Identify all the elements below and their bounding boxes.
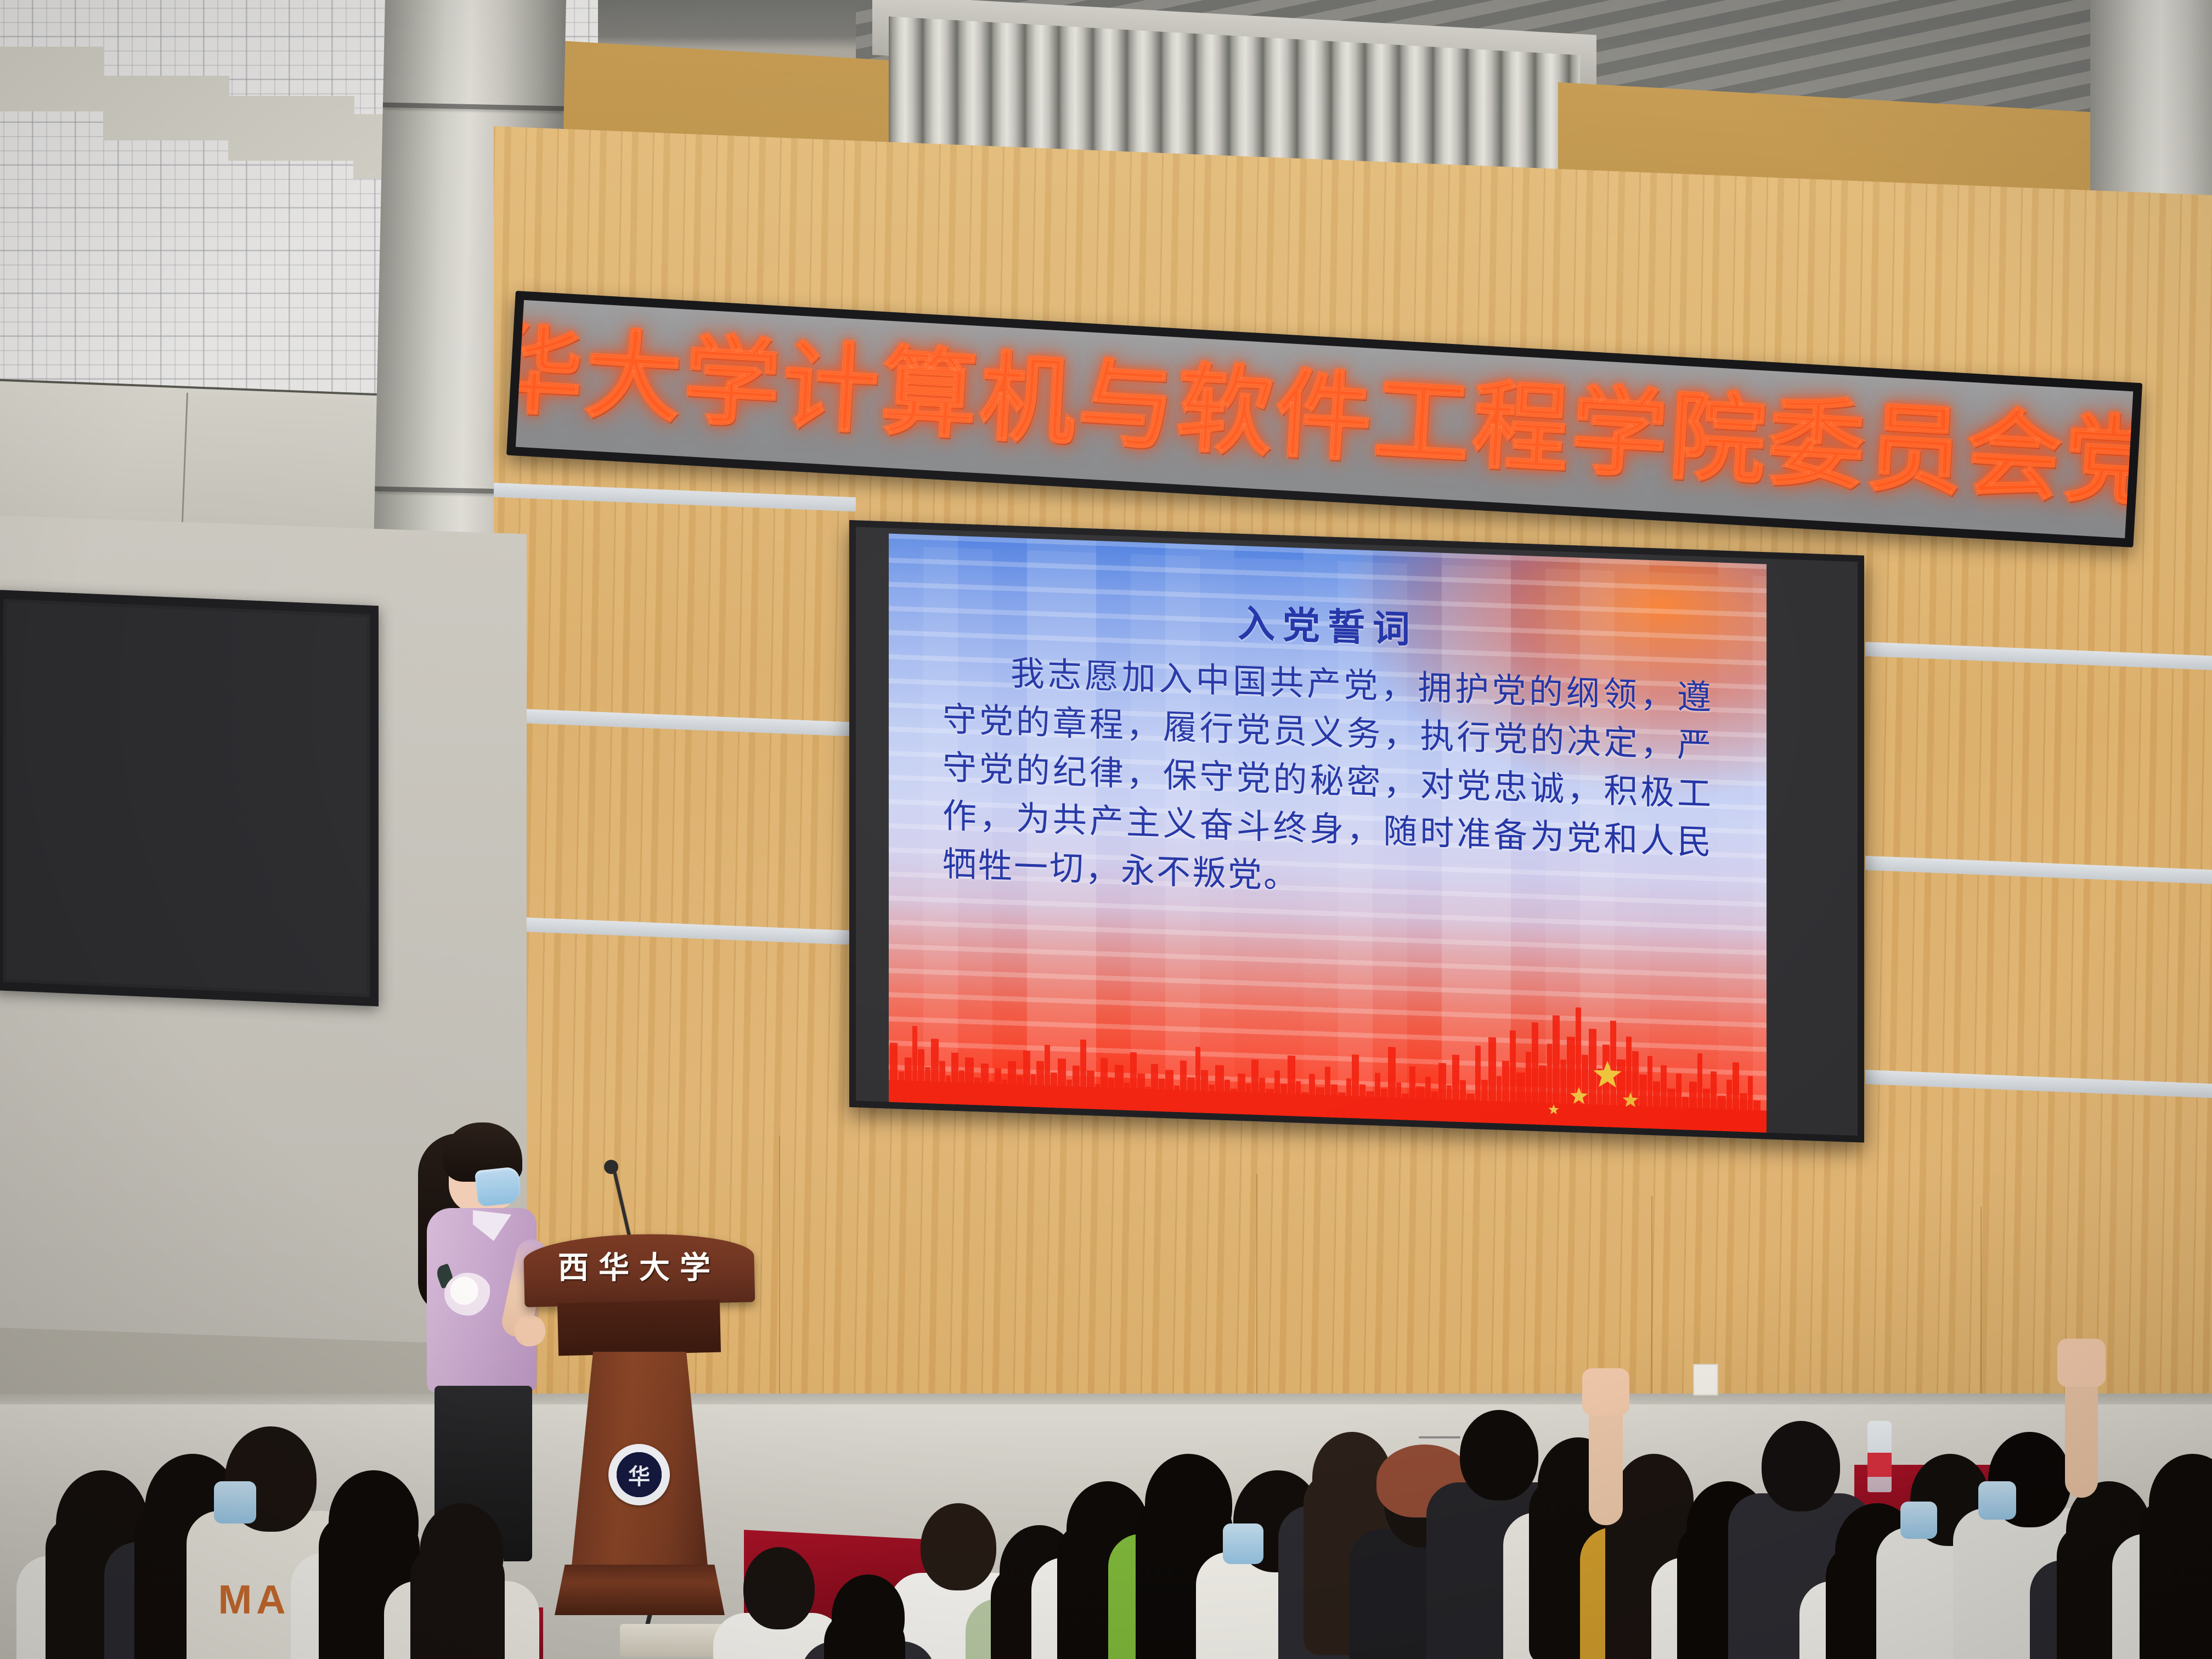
stone-step <box>0 47 104 111</box>
audience-member-fist <box>2057 1339 2106 1387</box>
audience-member-mask <box>1900 1502 1937 1538</box>
audience-member-head <box>1762 1421 1840 1511</box>
audience-member-fist <box>1582 1368 1629 1415</box>
audience-member-mask <box>214 1481 256 1523</box>
auditorium-photo: 中共西华大学计算机与软件工程学院委员会党员大会 入党誓词 我志愿加入中国共产党，… <box>0 0 2212 1659</box>
audience-member <box>384 1503 539 1659</box>
slide-oath-text: 我志愿加入中国共产党，拥护党的纲领，遵守党的章程，履行党员义务，执行党的决定，严… <box>928 646 1727 916</box>
audience-raised-fist <box>2052 1333 2118 1498</box>
projection-screen: 入党誓词 我志愿加入中国共产党，拥护党的纲领，遵守党的章程，履行党员义务，执行党… <box>849 520 1864 1143</box>
stone-step <box>228 96 354 161</box>
audience-member-head <box>832 1575 905 1658</box>
stone-step <box>103 76 229 140</box>
audience-member-mask <box>1223 1523 1263 1564</box>
audience-member <box>801 1575 935 1659</box>
audience: MAN <box>0 1196 2212 1659</box>
audience-raised-fist <box>1575 1361 1640 1525</box>
audience-member-head <box>420 1503 504 1600</box>
slide-content: 入党誓词 我志愿加入中国共产党，拥护党的纲领，遵守党的章程，履行党员义务，执行党… <box>889 534 1767 1138</box>
column-ring <box>383 103 564 111</box>
left-blank-display-panel <box>0 590 379 1006</box>
audience-member-mask <box>1978 1481 2016 1520</box>
eyeglasses-icon <box>1419 1436 1460 1438</box>
presentation-slide: 入党誓词 我志愿加入中国共产党，拥护党的纲领，遵守党的章程，履行党员义务，执行党… <box>889 534 1767 1138</box>
audience-member <box>2112 1454 2212 1659</box>
